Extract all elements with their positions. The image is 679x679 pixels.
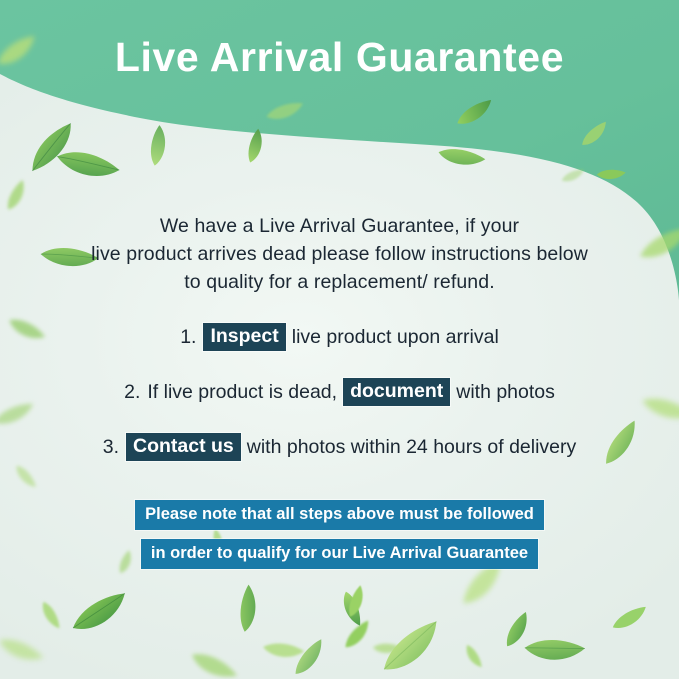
step-highlight-contact-us: Contact us	[126, 433, 241, 461]
intro-paragraph: We have a Live Arrival Guarantee, if you…	[50, 212, 629, 296]
intro-line-1: We have a Live Arrival Guarantee, if you…	[50, 212, 629, 240]
intro-line-3: to quality for a replacement/ refund.	[50, 268, 629, 296]
step-text-after: with photos within 24 hours of delivery	[247, 436, 577, 459]
note-line-1: Please note that all steps above must be…	[135, 500, 544, 530]
step-item-1: 1. Inspect live product upon arrival	[0, 318, 679, 356]
footer-notes: Please note that all steps above must be…	[0, 500, 679, 569]
content-area: We have a Live Arrival Guarantee, if you…	[0, 0, 679, 679]
intro-line-2: live product arrives dead please follow …	[50, 240, 629, 268]
steps-list: 1. Inspect live product upon arrival 2. …	[0, 318, 679, 483]
step-text-before: If live product is dead,	[147, 381, 337, 404]
step-text-after: live product upon arrival	[292, 326, 499, 349]
step-number: 1.	[180, 326, 196, 349]
step-text-after: with photos	[456, 381, 555, 404]
step-number: 2.	[124, 381, 140, 404]
note-line-2: in order to qualify for our Live Arrival…	[141, 539, 538, 569]
step-number: 3.	[103, 436, 119, 459]
live-arrival-guarantee-graphic: Live Arrival Guarantee	[0, 0, 679, 679]
step-item-3: 3. Contact us with photos within 24 hour…	[0, 428, 679, 466]
step-highlight-document: document	[343, 378, 450, 406]
step-item-2: 2. If live product is dead, document wit…	[0, 373, 679, 411]
step-highlight-inspect: Inspect	[203, 323, 285, 351]
